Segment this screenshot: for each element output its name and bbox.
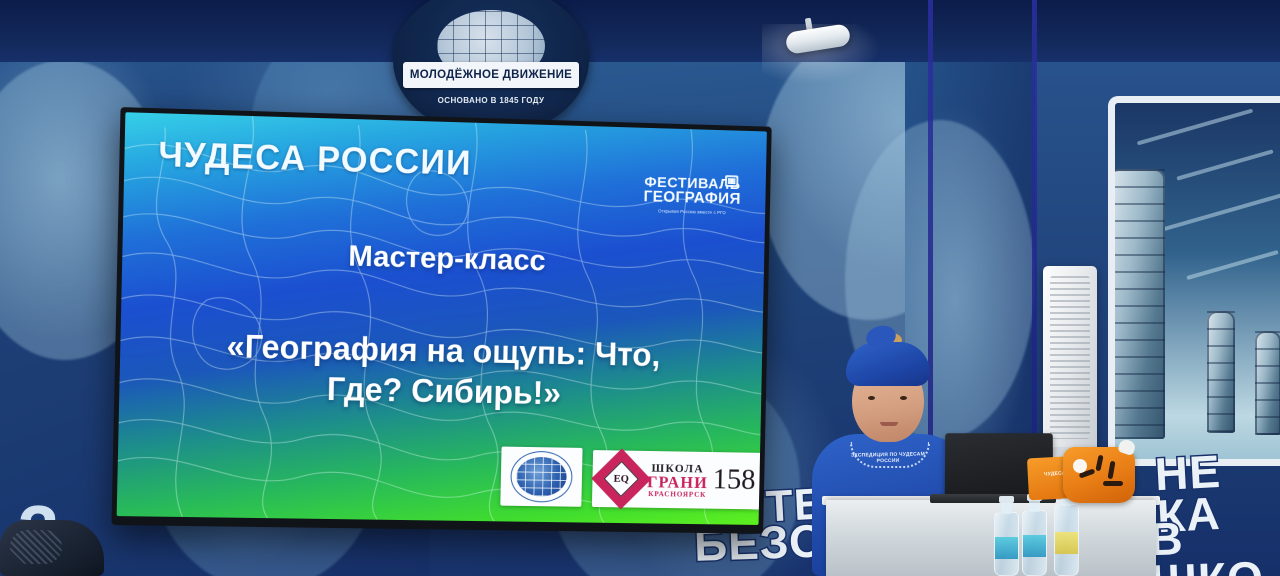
water-bottle (1022, 510, 1047, 576)
shirt-text: ЭКСПЕДИЦИЯ ПО ЧУДЕСАМ РОССИИ (842, 451, 934, 465)
festival-mark-icon (725, 175, 739, 187)
eq-monogram: EQ (600, 457, 643, 501)
grani-school-number: 158 (712, 465, 755, 497)
ceiling (0, 0, 1280, 62)
eye (868, 396, 875, 400)
eye (900, 396, 907, 400)
water-bottle (1054, 504, 1079, 576)
festival-logo-line2: ГЕОГРАФИЯ (641, 190, 742, 209)
festival-logo: ФЕСТИВАЛЬ ГЕОГРАФИЯ Открывая Россию вмес… (641, 175, 743, 216)
foreground-object (0, 520, 104, 576)
tiger-prop (1063, 447, 1135, 503)
snow-pillars-poster (1108, 96, 1280, 466)
rgo-band: МОЛОДЁЖНОЕ ДВИЖЕНИЕ (403, 62, 579, 88)
water-bottle (994, 512, 1019, 576)
slide-logo-row: EQ ШКОЛА ГРАНИ КРАСНОЯРСК 158 (500, 447, 763, 510)
grani-word-grani: ГРАНИ (647, 473, 708, 491)
grani-wordmark: ШКОЛА ГРАНИ КРАСНОЯРСК (647, 461, 709, 498)
rgo-bottom-arc-text: ОСНОВАНО В 1845 ГОДУ (393, 96, 589, 105)
mouth (880, 422, 898, 426)
globe-icon (516, 457, 567, 497)
headscarf (846, 342, 930, 386)
shkola-grani-logo: EQ ШКОЛА ГРАНИ КРАСНОЯРСК 158 (592, 450, 764, 509)
mural-text-fragment: В ШКО (1149, 514, 1280, 576)
photo-scene: РУССКОЕ ГЕОГРАФИЧЕСКОЕ ОБЩЕСТВО МОЛОДЁЖН… (0, 0, 1280, 576)
rgo-band-text: МОЛОДЁЖНОЕ ДВИЖЕНИЕ (410, 69, 572, 81)
slide-main-title: «География на ощупь: Что, Где? Сибирь!» (175, 325, 710, 416)
presentation-slide: ЧУДЕСА РОССИИ ФЕСТИВАЛЬ ГЕОГРАФИЯ Открыв… (117, 112, 767, 525)
grani-word-krasnoyarsk: КРАСНОЯРСК (648, 490, 706, 498)
desk (826, 500, 1156, 576)
eq-diamond-icon: EQ (600, 457, 643, 501)
tv-screen: ЧУДЕСА РОССИИ ФЕСТИВАЛЬ ГЕОГРАФИЯ Открыв… (111, 107, 771, 534)
rgo-globe-logo (500, 447, 582, 507)
